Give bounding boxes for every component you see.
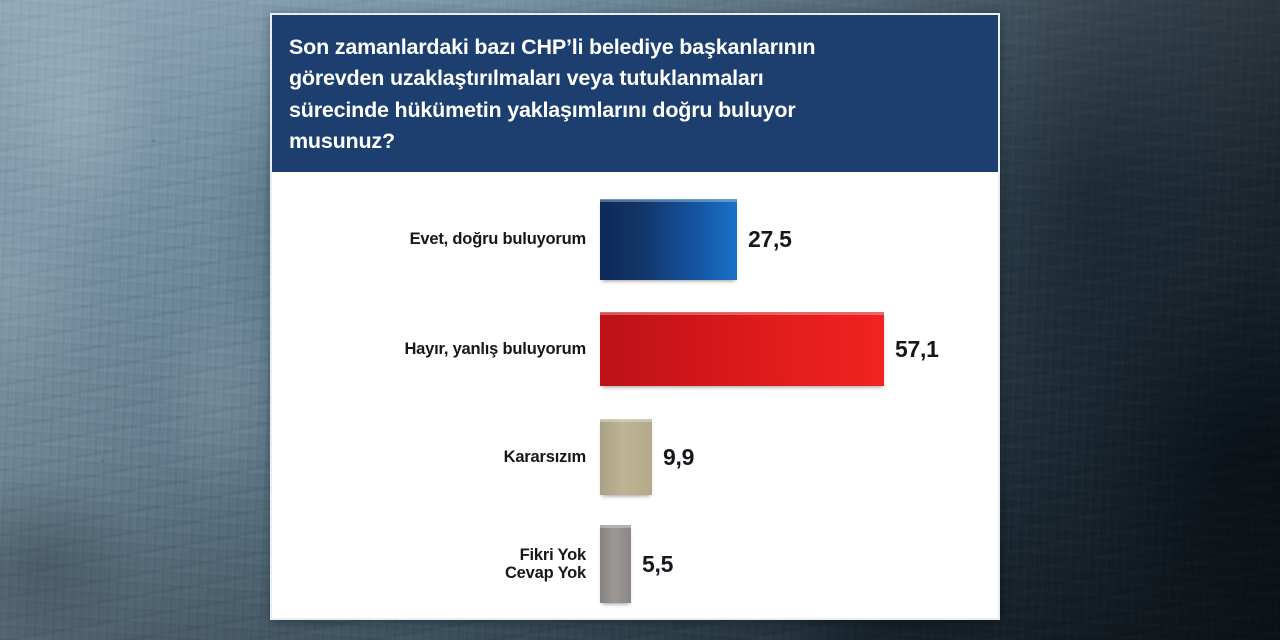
bar-value-kararsizim: 9,9 [652,444,694,471]
poll-result-card: Son zamanlardaki bazı CHP’li belediye ba… [270,13,1000,620]
bar-track: 9,9 [600,419,998,495]
bar-hayir [600,312,884,386]
bar-kararsizim [600,419,652,495]
bar-track: 57,1 [600,312,998,386]
bar-label-fikri-yok: Fikri Yok Cevap Yok [272,546,600,583]
bar-row: Fikri Yok Cevap Yok 5,5 [272,525,998,603]
bar-row: Kararsızım 9,9 [272,419,998,495]
bar-label-evet: Evet, doğru buluyorum [272,230,600,248]
bar-track: 5,5 [600,525,998,603]
bar-label-kararsizim: Kararsızım [272,448,600,466]
bar-row: Evet, doğru buluyorum 27,5 [272,199,998,280]
bar-chart: Evet, doğru buluyorum 27,5 Hayır, yanlış… [272,172,998,618]
bar-row: Hayır, yanlış buluyorum 57,1 [272,312,998,386]
bar-track: 27,5 [600,199,998,280]
bar-fikri-yok [600,525,631,603]
bar-label-hayir: Hayır, yanlış buluyorum [272,340,600,358]
bar-evet [600,199,737,280]
question-header: Son zamanlardaki bazı CHP’li belediye ba… [272,15,998,172]
bar-value-evet: 27,5 [737,226,792,253]
question-title: Son zamanlardaki bazı CHP’li belediye ba… [289,32,980,158]
bar-value-fikri-yok: 5,5 [631,551,673,578]
bar-value-hayir: 57,1 [884,336,939,363]
